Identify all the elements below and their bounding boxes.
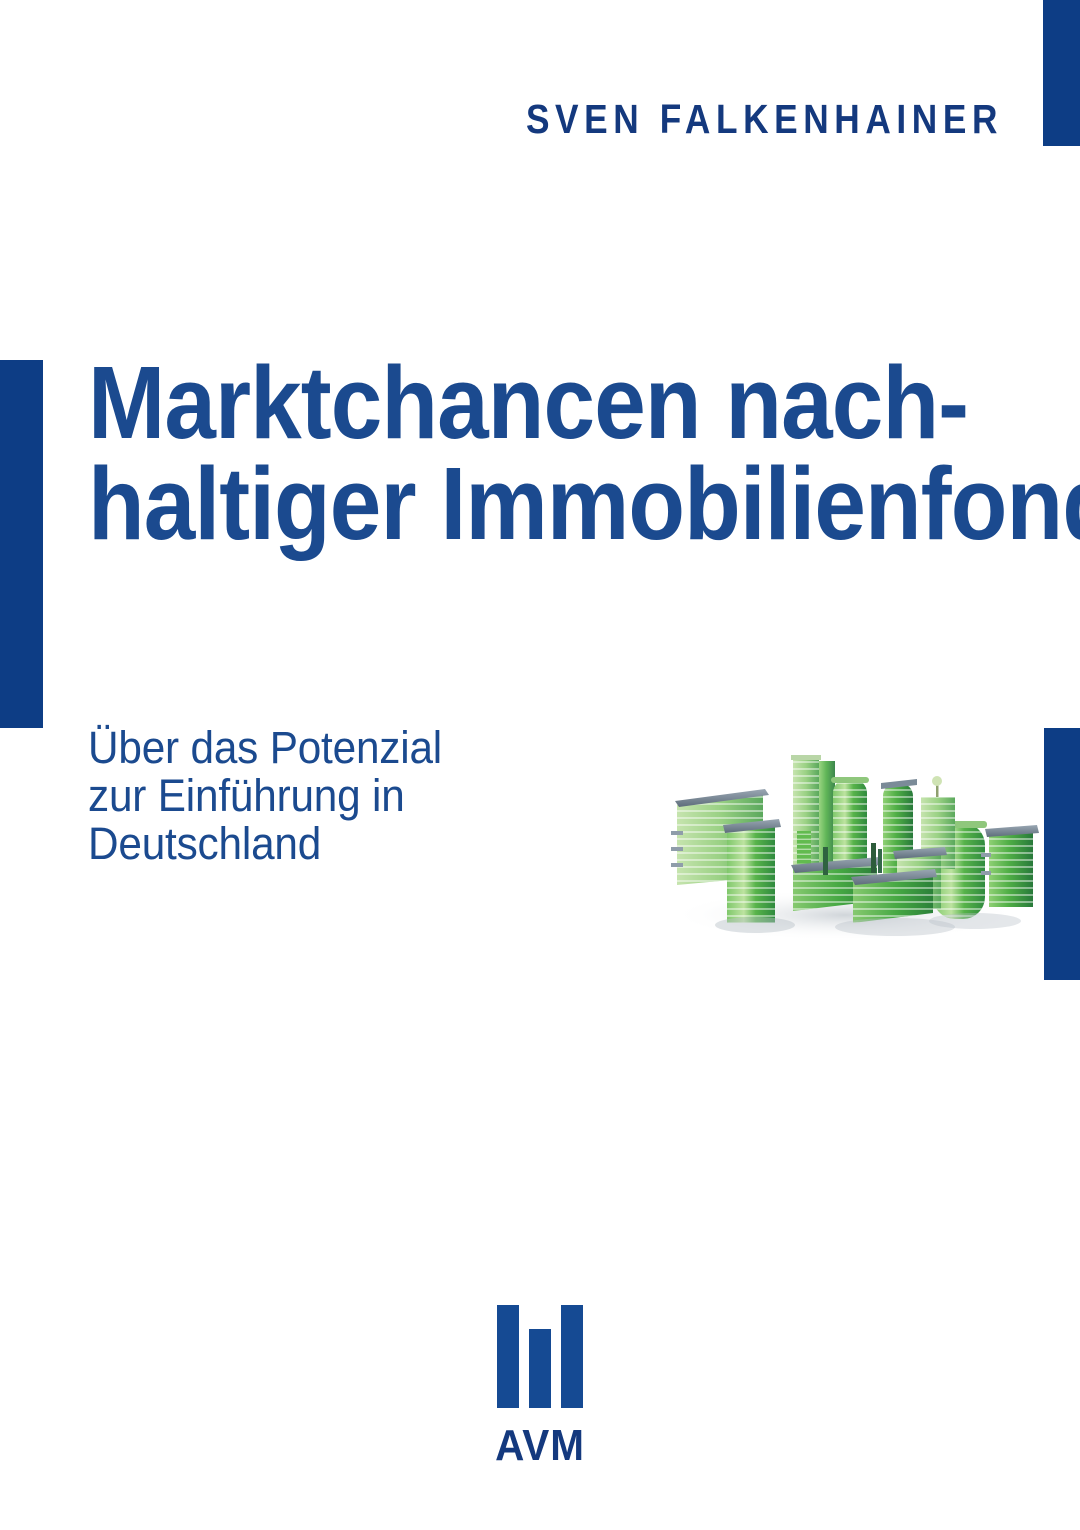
green-city-svg	[645, 735, 1045, 950]
subtitle-line-1: Über das Potenzial	[88, 724, 530, 772]
accent-block-top-right	[1043, 0, 1080, 146]
logo-bar-left	[497, 1305, 519, 1408]
three-bars-icon	[497, 1305, 583, 1408]
book-cover: SVEN FALKENHAINER Marktchancen nach- hal…	[0, 0, 1080, 1530]
building-front-left	[723, 819, 781, 923]
subtitle-line-2: zur Einführung in	[88, 772, 530, 820]
green-city-illustration	[645, 735, 1045, 950]
book-title: Marktchancen nach- haltiger Immobilienfo…	[88, 352, 1048, 554]
accent-block-left	[0, 360, 43, 728]
book-subtitle: Über das Potenzial zur Einführung in Deu…	[88, 724, 558, 868]
publisher-logo: AVM	[0, 1305, 1080, 1471]
title-line-1: Marktchancen nach-	[88, 352, 952, 453]
title-line-2: haltiger Immobilienfonds	[88, 453, 952, 554]
building-far-right-stack	[981, 825, 1039, 907]
logo-bar-middle	[529, 1329, 551, 1408]
publisher-wordmark: AVM	[43, 1421, 1037, 1471]
author-name: SVEN FALKENHAINER	[140, 96, 1003, 143]
accent-block-bottom-right	[1044, 728, 1080, 980]
subtitle-line-3: Deutschland	[88, 820, 530, 868]
logo-bar-right	[561, 1305, 583, 1408]
